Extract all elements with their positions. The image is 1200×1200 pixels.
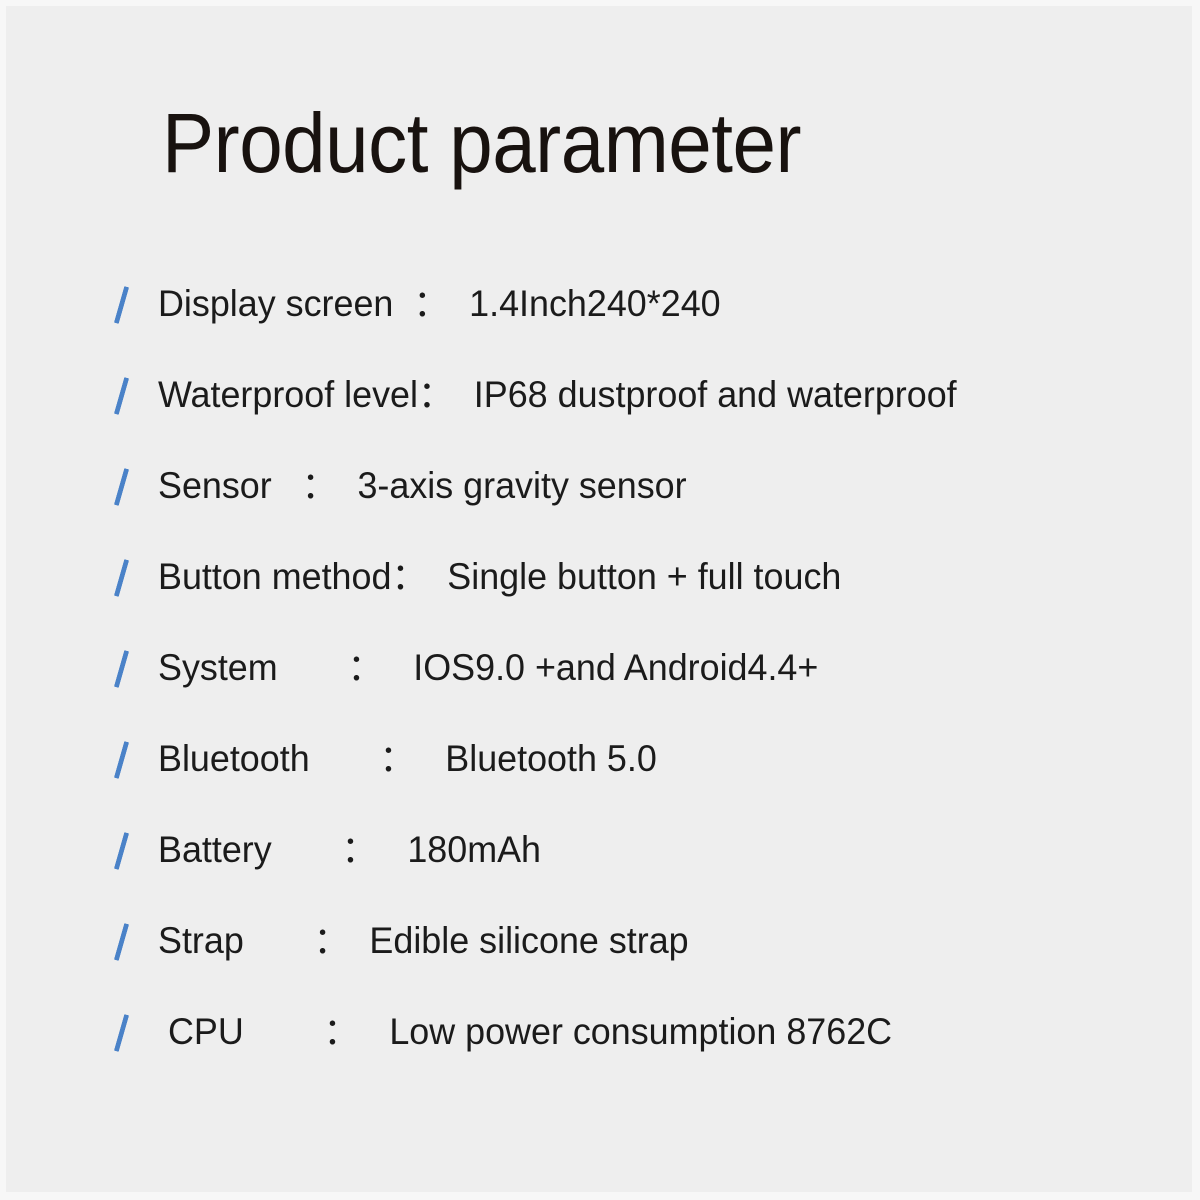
spec-key: Waterproof level (158, 374, 418, 415)
slash-icon (114, 559, 129, 597)
spec-key: Strap (158, 920, 244, 961)
spec-list: Display screen ： 1.4Inch240*240 Waterpro… (6, 274, 1192, 1093)
spec-row-bluetooth: Bluetooth ： Bluetooth 5.0 (6, 729, 1192, 820)
spec-text: System ： IOS9.0 +and Android4.4+ (158, 646, 818, 690)
spec-key: Bluetooth (158, 738, 310, 779)
spec-text: Sensor ： 3-axis gravity sensor (158, 464, 687, 508)
spec-text: Bluetooth ： Bluetooth 5.0 (158, 737, 657, 781)
slash-icon (114, 650, 129, 688)
spec-separator: ： (244, 920, 370, 961)
spec-key: System (158, 647, 278, 688)
spec-value: IOS9.0 +and Android4.4+ (413, 647, 818, 688)
spec-separator: ： (244, 1011, 390, 1052)
page-title: Product parameter (162, 101, 801, 185)
spec-text: Strap ： Edible silicone strap (158, 919, 689, 963)
spec-row-display-screen: Display screen ： 1.4Inch240*240 (6, 274, 1192, 365)
spec-key: Display screen (158, 283, 393, 324)
spec-row-cpu: CPU ： Low power consumption 8762C (6, 1002, 1192, 1093)
spec-value: Edible silicone strap (369, 920, 688, 961)
spec-row-button-method: Button method： Single button + full touc… (6, 547, 1192, 638)
spec-row-waterproof-level: Waterproof level： IP68 dustproof and wat… (6, 365, 1192, 456)
slash-icon (114, 923, 129, 961)
spec-separator: ： (278, 647, 414, 688)
spec-row-strap: Strap ： Edible silicone strap (6, 911, 1192, 1002)
spec-row-system: System ： IOS9.0 +and Android4.4+ (6, 638, 1192, 729)
spec-key: Sensor (158, 465, 272, 506)
spec-value: Low power consumption 8762C (389, 1011, 892, 1052)
spec-text: Display screen ： 1.4Inch240*240 (158, 282, 721, 326)
spec-separator: ： (272, 465, 358, 506)
spec-separator: ： (393, 283, 469, 324)
spec-text: Battery ： 180mAh (158, 828, 541, 872)
spec-value: 3-axis gravity sensor (357, 465, 686, 506)
spec-value: Bluetooth 5.0 (445, 738, 657, 779)
spec-value: 1.4Inch240*240 (469, 283, 720, 324)
spec-text: Waterproof level： IP68 dustproof and wat… (158, 373, 957, 417)
spec-key: Button method (158, 556, 391, 597)
spec-separator: ： (391, 556, 447, 597)
slash-icon (114, 1014, 129, 1052)
slash-icon (114, 741, 129, 779)
spec-separator: ： (418, 374, 474, 415)
slash-icon (114, 286, 129, 324)
spec-key: CPU (158, 1011, 244, 1052)
spec-key: Battery (158, 829, 272, 870)
slash-icon (114, 468, 129, 506)
spec-separator: ： (272, 829, 408, 870)
slash-icon (114, 832, 129, 870)
page-frame: Product parameter Display screen ： 1.4In… (0, 0, 1200, 1200)
spec-row-sensor: Sensor ： 3-axis gravity sensor (6, 456, 1192, 547)
spec-value: 180mAh (407, 829, 541, 870)
spec-value: IP68 dustproof and waterproof (474, 374, 957, 415)
slash-icon (114, 377, 129, 415)
spec-separator: ： (310, 738, 446, 779)
spec-row-battery: Battery ： 180mAh (6, 820, 1192, 911)
product-parameter-panel: Product parameter Display screen ： 1.4In… (6, 6, 1192, 1192)
spec-text: CPU ： Low power consumption 8762C (158, 1010, 892, 1054)
spec-value: Single button + full touch (447, 556, 841, 597)
spec-text: Button method： Single button + full touc… (158, 555, 841, 599)
